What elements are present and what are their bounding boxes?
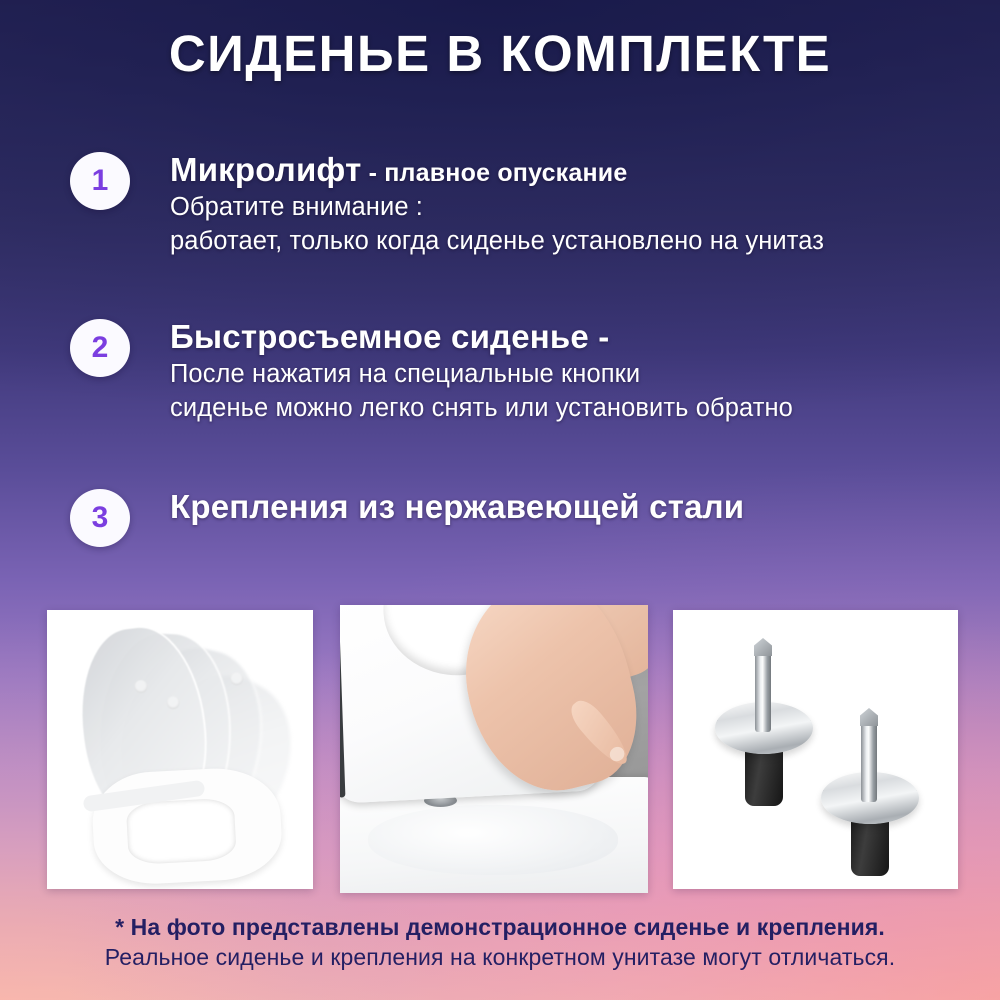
quick-release-illustration xyxy=(340,605,648,893)
soft-close-seat-photo xyxy=(47,610,313,889)
seat-bumper-icon xyxy=(134,679,148,693)
stainless-fasteners-illustration xyxy=(673,610,958,889)
bolt-shaft xyxy=(755,650,771,732)
poster-content: СИДЕНЬЕ В КОМПЛЕКТЕ 1 Микролифт - плавно… xyxy=(0,0,1000,1000)
feature-body-1: Микролифт - плавное опускание Обратите в… xyxy=(170,152,1000,258)
quick-release-install-photo xyxy=(340,605,648,893)
photo-strip xyxy=(47,610,958,889)
feature-number-badge-3: 3 xyxy=(70,489,130,547)
feature-body-2: Быстросъемное сиденье - После нажатия на… xyxy=(170,319,1000,425)
feature-headline-rest-1: - плавное опускание xyxy=(361,159,627,187)
feature-headline-strong-1: Микролифт xyxy=(170,151,361,188)
feature-number-badge-2: 2 xyxy=(70,319,130,377)
feature-line-2-0: После нажатия на специальные кнопки xyxy=(170,357,1000,391)
stainless-fasteners-photo xyxy=(673,610,958,889)
feature-headline-strong-3: Крепления из нержавеющей стали xyxy=(170,488,744,525)
feature-item-3: 3 Крепления из нержавеющей стали xyxy=(70,489,1000,527)
seat-bumper-icon xyxy=(166,695,180,709)
feature-item-2: 2 Быстросъемное сиденье - После нажатия … xyxy=(70,319,1000,425)
footnote-line-2: Реальное сиденье и крепления на конкретн… xyxy=(0,942,1000,972)
footnote: * На фото представлены демонстрационное … xyxy=(0,912,1000,973)
bolt-shaft xyxy=(861,720,877,802)
feature-headline-2: Быстросъемное сиденье - xyxy=(170,319,1000,355)
feature-headline-3: Крепления из нержавеющей стали xyxy=(170,489,1000,525)
product-infographic-poster: СИДЕНЬЕ В КОМПЛЕКТЕ 1 Микролифт - плавно… xyxy=(0,0,1000,1000)
page-title: СИДЕНЬЕ В КОМПЛЕКТЕ xyxy=(0,24,1000,83)
bolt-tip-icon xyxy=(754,638,772,656)
feature-headline-strong-2: Быстросъемное сиденье - xyxy=(170,318,609,355)
feature-headline-1: Микролифт - плавное опускание xyxy=(170,152,1000,188)
feature-line-2-1: сиденье можно легко снять или установить… xyxy=(170,391,1000,425)
feature-number-badge-1: 1 xyxy=(70,152,130,210)
index-finger-shape xyxy=(565,695,635,771)
soft-close-seat-illustration xyxy=(47,610,313,889)
feature-line-1-0: Обратите внимание : xyxy=(170,190,1000,224)
feature-item-1: 1 Микролифт - плавное опускание Обратите… xyxy=(70,152,1000,258)
feature-line-1-1: работает, только когда сиденье установле… xyxy=(170,224,1000,258)
feature-body-3: Крепления из нержавеющей стали xyxy=(170,489,1000,525)
footnote-line-1: * На фото представлены демонстрационное … xyxy=(0,912,1000,942)
bolt-tip-icon xyxy=(860,708,878,726)
